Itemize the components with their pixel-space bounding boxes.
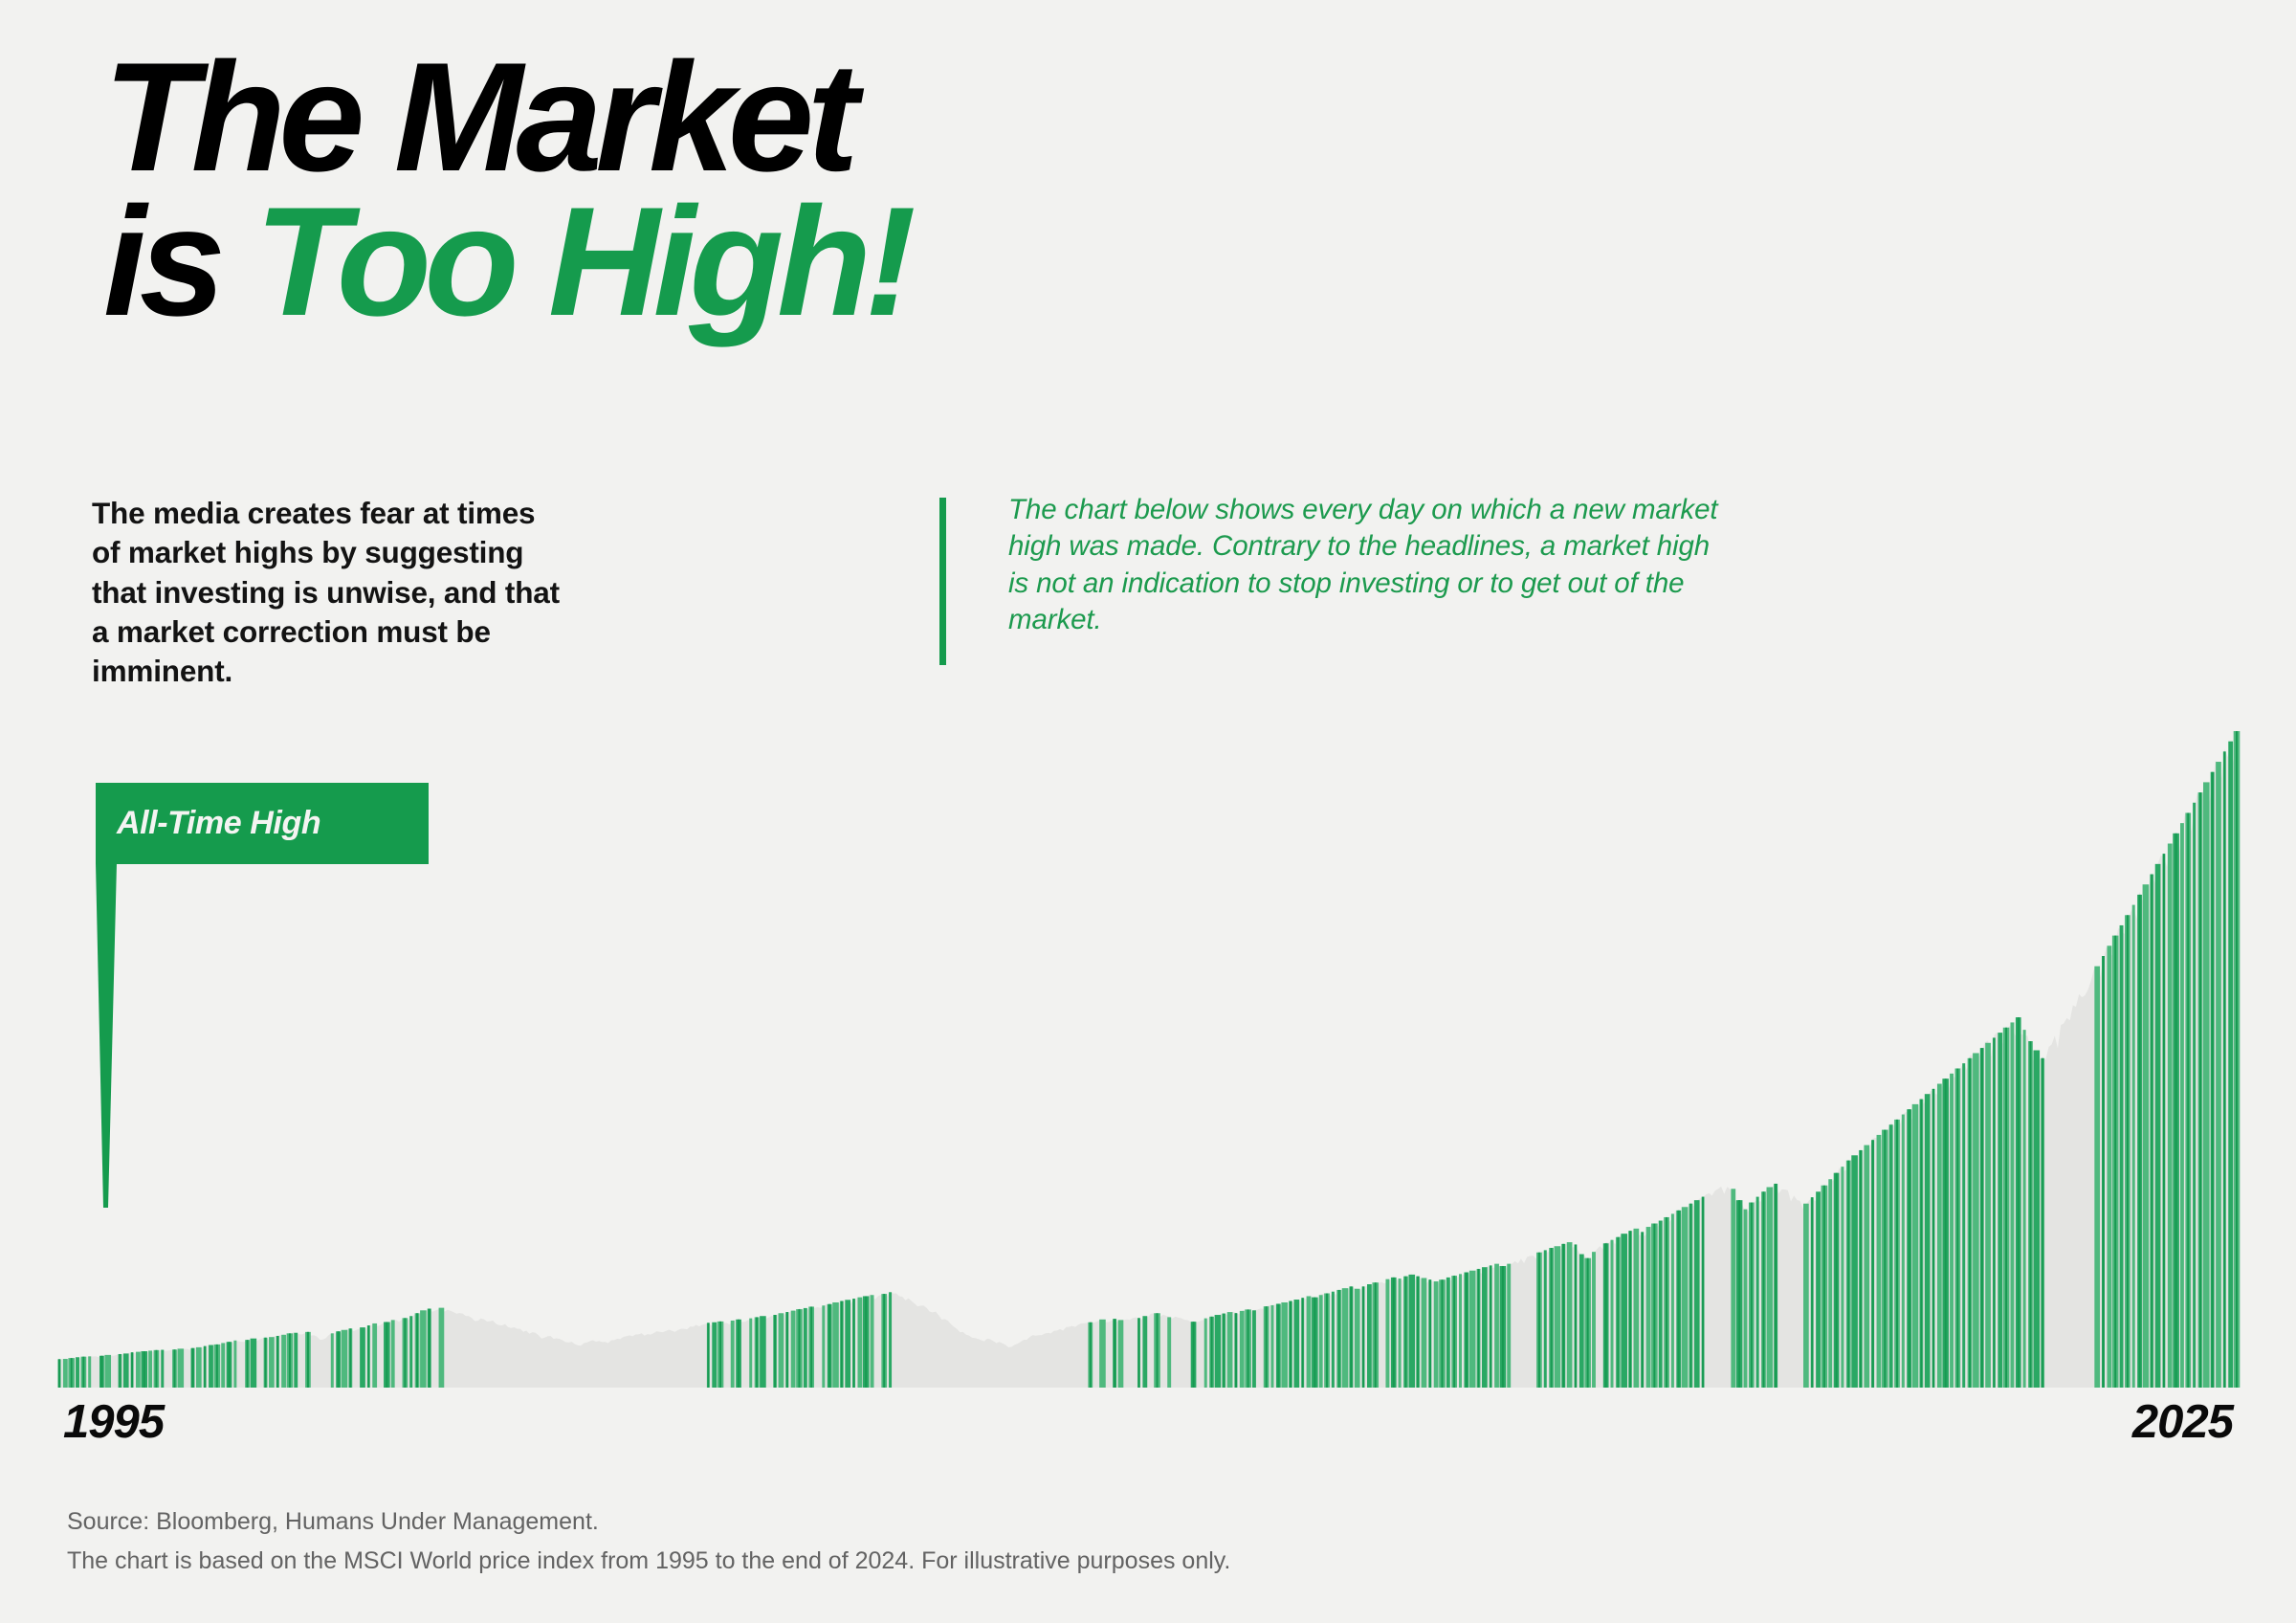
all-time-high-line-core	[1350, 1286, 1352, 1388]
all-time-high-line-core	[798, 1309, 800, 1388]
all-time-high-line-core	[191, 1348, 193, 1388]
all-time-high-line	[1592, 1252, 1596, 1388]
all-time-high-line	[1099, 1320, 1106, 1388]
all-time-high-line-core	[853, 1299, 855, 1388]
all-time-high-line-core	[204, 1346, 206, 1388]
all-time-high-line-core	[1417, 1277, 1419, 1388]
all-time-high-line-core	[1114, 1319, 1115, 1388]
all-time-high-line	[1864, 1145, 1869, 1388]
all-time-high-line	[845, 1300, 850, 1388]
all-time-high-line	[791, 1311, 796, 1388]
headline-line-2-green: Too High!	[254, 175, 909, 348]
all-time-high-line	[1367, 1284, 1372, 1388]
all-time-high-line-core	[58, 1359, 60, 1388]
all-time-high-line	[1579, 1255, 1584, 1388]
all-time-high-line-core	[1490, 1265, 1491, 1388]
all-time-high-line-core	[1653, 1224, 1655, 1389]
all-time-high-line	[1215, 1315, 1222, 1388]
all-time-high-line-core	[1932, 1089, 1934, 1388]
callout-label: All-Time High	[96, 783, 429, 864]
all-time-high-line-core	[1666, 1217, 1667, 1388]
all-time-high-callout: All-Time High	[88, 783, 452, 1204]
all-time-high-line	[1494, 1264, 1499, 1388]
all-time-high-line-core	[1896, 1120, 1898, 1388]
all-time-high-line	[1646, 1227, 1651, 1388]
all-time-high-line	[1307, 1296, 1312, 1388]
all-time-high-line-core	[1969, 1058, 1971, 1388]
all-time-high-line	[857, 1298, 862, 1388]
all-time-high-line	[1621, 1234, 1627, 1388]
all-time-high-line-core	[119, 1354, 121, 1388]
all-time-high-line	[1756, 1197, 1759, 1388]
all-time-high-line	[2216, 762, 2221, 1388]
all-time-high-line-core	[1762, 1191, 1764, 1388]
all-time-high-line-core	[2236, 731, 2238, 1388]
all-time-high-line	[123, 1353, 129, 1388]
all-time-high-line-core	[865, 1296, 867, 1388]
footnote-line-2: The chart is based on the MSCI World pri…	[67, 1542, 1980, 1581]
all-time-high-line-core	[131, 1352, 133, 1388]
all-time-high-line-core	[738, 1320, 740, 1388]
all-time-high-line	[1851, 1155, 1858, 1388]
all-time-high-line-core	[82, 1357, 84, 1388]
all-time-high-line-core	[810, 1306, 812, 1388]
all-time-high-line	[1611, 1240, 1614, 1388]
page-title: The Market is Too High!	[103, 46, 1538, 334]
all-time-high-line-core	[1993, 1037, 1995, 1388]
all-time-high-line	[360, 1327, 365, 1388]
all-time-high-line	[1634, 1229, 1640, 1388]
all-time-high-line	[269, 1337, 275, 1388]
all-time-high-line	[1985, 1043, 1991, 1388]
all-time-high-line-core	[143, 1351, 145, 1388]
all-time-high-line	[1877, 1135, 1882, 1388]
all-time-high-line-core	[2212, 772, 2214, 1388]
all-time-high-line	[1385, 1279, 1389, 1388]
all-time-high-line-core	[367, 1325, 369, 1388]
all-time-high-line	[331, 1333, 334, 1388]
all-time-high-line-core	[276, 1336, 278, 1388]
all-time-high-line	[822, 1305, 825, 1388]
all-time-high-line-core	[1326, 1293, 1328, 1388]
all-time-high-line-core	[774, 1315, 776, 1388]
all-time-high-line	[294, 1333, 298, 1388]
all-time-high-line	[2203, 782, 2210, 1388]
all-time-high-line-core	[289, 1333, 291, 1388]
all-time-high-line	[1252, 1310, 1256, 1388]
all-time-high-line-core	[2139, 895, 2141, 1388]
all-time-high-line	[221, 1343, 225, 1388]
all-time-high-line	[1912, 1104, 1919, 1388]
axis-label-start-year: 1995	[63, 1395, 164, 1449]
axis-label-end-year: 2025	[2132, 1395, 2233, 1449]
all-time-high-line-core	[265, 1338, 267, 1388]
all-time-high-line-core	[1642, 1232, 1644, 1388]
all-time-high-line	[1544, 1250, 1547, 1388]
all-time-high-line-core	[707, 1323, 709, 1388]
all-time-high-line	[1816, 1191, 1821, 1388]
all-time-high-line-core	[2163, 854, 2165, 1388]
all-time-high-line	[1767, 1188, 1774, 1388]
all-time-high-line	[1319, 1295, 1323, 1388]
all-time-high-line	[1555, 1246, 1561, 1388]
all-time-high-line	[63, 1359, 68, 1388]
all-time-high-line	[439, 1308, 445, 1388]
all-time-high-line-core	[416, 1313, 418, 1388]
all-time-high-line-core	[155, 1350, 157, 1388]
all-time-high-line-core	[1193, 1322, 1195, 1388]
all-time-high-line-core	[229, 1342, 231, 1388]
all-time-high-line	[1293, 1300, 1299, 1388]
all-time-high-line	[1482, 1267, 1488, 1388]
all-time-high-line	[1950, 1074, 1954, 1388]
all-time-high-line-core	[307, 1332, 309, 1388]
all-time-high-line	[196, 1347, 202, 1388]
all-time-high-line	[1355, 1289, 1360, 1388]
all-time-high-line	[760, 1316, 766, 1388]
all-time-high-line	[1973, 1053, 1979, 1388]
headline-line-2-black: is	[103, 175, 254, 348]
all-time-high-line-core	[1362, 1286, 1364, 1388]
all-time-high-line	[1731, 1189, 1735, 1388]
all-time-high-line-core	[1860, 1150, 1862, 1388]
all-time-high-line-core	[883, 1294, 885, 1388]
all-time-high-line	[1118, 1320, 1124, 1388]
all-time-high-line-core	[1538, 1253, 1540, 1388]
headline-line-2: is Too High!	[103, 190, 1538, 335]
all-time-high-line-core	[1393, 1278, 1395, 1388]
all-time-high-line	[1204, 1319, 1207, 1388]
all-time-high-line	[104, 1355, 111, 1388]
all-time-high-line-core	[1266, 1306, 1268, 1388]
all-time-high-line	[233, 1341, 236, 1388]
all-time-high-line	[1434, 1281, 1439, 1388]
all-time-high-line	[1469, 1271, 1476, 1388]
all-time-high-line	[1659, 1221, 1663, 1388]
all-time-high-line	[161, 1350, 164, 1388]
all-time-high-line	[76, 1357, 79, 1388]
all-time-high-line-core	[1302, 1298, 1304, 1388]
all-time-high-line	[1408, 1275, 1415, 1388]
all-time-high-line-core	[1738, 1200, 1740, 1388]
all-time-high-line	[1567, 1242, 1573, 1388]
all-time-high-line	[889, 1292, 892, 1388]
all-time-high-line-core	[2151, 875, 2152, 1388]
all-time-high-line	[1270, 1305, 1273, 1388]
all-time-high-line-core	[1223, 1314, 1225, 1388]
all-time-high-line-core	[1575, 1244, 1577, 1388]
all-time-high-line	[136, 1352, 141, 1388]
intro-right-paragraph: The chart below shows every day on which…	[1008, 492, 1735, 638]
all-time-high-line-core	[1562, 1244, 1564, 1388]
all-time-high-line	[1332, 1292, 1335, 1388]
all-time-high-line	[372, 1323, 377, 1388]
all-time-high-line-core	[1945, 1078, 1947, 1388]
intro-left-paragraph: The media creates fear at times of marke…	[92, 494, 570, 691]
all-time-high-line-core	[1689, 1204, 1691, 1388]
all-time-high-line-core	[756, 1317, 758, 1388]
all-time-high-line-core	[2005, 1028, 2007, 1388]
all-time-high-line	[1902, 1115, 1905, 1388]
all-time-high-line-core	[1836, 1173, 1838, 1388]
all-time-high-line	[871, 1295, 874, 1388]
all-time-high-line-core	[1314, 1298, 1315, 1388]
all-time-high-line-core	[1956, 1068, 1958, 1388]
all-time-high-line	[2010, 1022, 2014, 1388]
all-time-high-line-core	[1478, 1269, 1480, 1388]
all-time-high-line	[2094, 967, 2100, 1388]
all-time-high-line	[251, 1339, 257, 1388]
all-time-high-line-core	[1617, 1237, 1619, 1388]
all-time-high-line	[1281, 1302, 1288, 1388]
all-time-high-line-core	[2127, 915, 2129, 1388]
all-time-high-line-core	[338, 1331, 340, 1388]
all-time-high-line	[1803, 1204, 1809, 1388]
all-time-high-line-core	[1775, 1184, 1777, 1388]
all-time-high-line	[1889, 1124, 1893, 1388]
all-time-high-line	[731, 1321, 735, 1388]
all-time-high-line	[804, 1308, 807, 1388]
callout-pointer-leg	[88, 863, 145, 1208]
all-time-high-line	[178, 1348, 185, 1388]
all-time-high-line	[779, 1313, 784, 1388]
all-time-high-line	[1962, 1063, 1965, 1388]
all-time-high-line	[1682, 1207, 1689, 1388]
all-time-high-line	[1507, 1264, 1511, 1388]
all-time-high-line	[2132, 905, 2135, 1388]
all-time-high-line-core	[1751, 1203, 1753, 1388]
all-time-high-line-core	[1375, 1282, 1377, 1388]
all-time-high-line	[1422, 1278, 1427, 1388]
all-time-high-line-core	[1629, 1231, 1631, 1388]
all-time-high-line-core	[1847, 1161, 1849, 1388]
all-time-high-line	[1841, 1167, 1843, 1388]
all-time-high-line-core	[1702, 1197, 1704, 1388]
all-time-high-line-core	[1466, 1273, 1468, 1388]
all-time-high-line-core	[1429, 1279, 1431, 1388]
all-time-high-line-core	[2187, 812, 2189, 1388]
callout-box: All-Time High	[96, 783, 429, 864]
all-time-high-line-core	[1502, 1266, 1504, 1388]
all-time-high-line	[1240, 1311, 1245, 1388]
intro-divider-rule	[939, 498, 946, 665]
all-time-high-line-core	[1235, 1313, 1237, 1388]
all-time-high-line	[2120, 925, 2124, 1388]
all-time-high-line	[1167, 1317, 1171, 1388]
all-time-high-line-core	[1920, 1100, 1922, 1388]
all-time-high-line	[342, 1330, 348, 1388]
all-time-high-line-core	[719, 1322, 721, 1388]
all-time-high-line	[409, 1316, 412, 1388]
all-time-high-line-core	[404, 1318, 406, 1388]
all-time-high-line	[209, 1345, 213, 1388]
all-time-high-line	[2180, 823, 2184, 1388]
all-time-high-line-core	[1290, 1301, 1291, 1389]
all-time-high-line	[2107, 945, 2111, 1388]
footnote-line-1: Source: Bloomberg, Humans Under Manageme…	[67, 1502, 1980, 1542]
all-time-high-line	[2155, 864, 2161, 1388]
all-time-high-line	[281, 1335, 286, 1388]
all-time-high-line-core	[1587, 1258, 1589, 1388]
all-time-high-line	[1446, 1278, 1450, 1388]
all-time-high-line	[832, 1302, 839, 1388]
all-time-high-line-core	[2103, 956, 2105, 1388]
all-time-high-line	[1694, 1200, 1700, 1388]
all-time-high-line	[1142, 1316, 1147, 1388]
all-time-high-line	[1342, 1288, 1349, 1388]
all-time-high-line	[2193, 803, 2196, 1388]
all-time-high-line	[2023, 1030, 2026, 1388]
all-time-high-line	[1227, 1312, 1233, 1388]
all-time-high-line	[749, 1319, 752, 1388]
all-time-high-line	[1828, 1179, 1832, 1388]
all-time-high-line-core	[1811, 1197, 1813, 1388]
all-time-high-line-core	[1137, 1318, 1139, 1388]
all-time-high-line-core	[386, 1322, 387, 1388]
all-time-high-line-core	[1678, 1211, 1680, 1388]
all-time-high-line-core	[349, 1328, 351, 1388]
all-time-high-line-core	[1277, 1303, 1279, 1388]
all-time-high-line-core	[1211, 1317, 1213, 1388]
all-time-high-line-core	[2223, 751, 2225, 1388]
source-footnote: Source: Bloomberg, Humans Under Manageme…	[67, 1502, 1980, 1580]
all-time-high-line-core	[1338, 1290, 1340, 1388]
all-time-high-line-core	[247, 1340, 249, 1388]
all-time-high-line	[1459, 1274, 1462, 1388]
all-time-high-line-core	[2114, 936, 2116, 1388]
all-time-high-line	[712, 1323, 717, 1388]
all-time-high-line-core	[1605, 1243, 1607, 1388]
all-time-high-line-core	[1823, 1186, 1825, 1388]
all-time-high-line-core	[2029, 1041, 2031, 1388]
all-time-high-line-core	[100, 1356, 102, 1388]
all-time-high-line-core	[841, 1301, 843, 1389]
all-time-high-line	[148, 1350, 152, 1388]
all-time-high-line-core	[429, 1309, 430, 1388]
all-time-high-line-core	[1453, 1276, 1455, 1388]
all-time-high-line	[2143, 884, 2150, 1388]
all-time-high-line	[1671, 1213, 1674, 1388]
all-time-high-line-core	[2199, 792, 2201, 1388]
all-time-high-line-core	[1157, 1313, 1159, 1388]
all-time-high-line-core	[1551, 1248, 1553, 1388]
all-time-high-line-core	[1872, 1140, 1874, 1388]
all-time-high-line	[1744, 1210, 1748, 1388]
all-time-high-line	[391, 1320, 395, 1388]
all-time-high-line	[1937, 1084, 1942, 1388]
all-time-high-line-core	[1090, 1323, 1092, 1388]
all-time-high-line	[1925, 1094, 1931, 1388]
all-time-high-line-core	[173, 1349, 175, 1388]
all-time-high-line-core	[786, 1312, 788, 1388]
all-time-high-line-core	[1981, 1048, 1983, 1388]
all-time-high-line-core	[2018, 1017, 2020, 1388]
all-time-high-line-core	[2042, 1058, 2043, 1388]
all-time-high-line-core	[1441, 1279, 1443, 1388]
all-time-high-line	[1998, 1033, 2002, 1388]
all-time-high-line-core	[1884, 1130, 1886, 1388]
all-time-high-line-core	[1909, 1109, 1910, 1388]
all-time-high-line	[420, 1310, 427, 1388]
all-time-high-line	[2033, 1051, 2040, 1388]
all-time-high-line	[1399, 1278, 1402, 1388]
all-time-high-line-core	[828, 1304, 830, 1388]
all-time-high-line	[2168, 844, 2173, 1389]
all-time-high-line-core	[71, 1358, 73, 1388]
all-time-high-line-core	[1404, 1277, 1406, 1388]
all-time-high-line-core	[216, 1345, 218, 1388]
all-time-high-line-core	[1247, 1309, 1249, 1388]
all-time-high-line	[88, 1356, 91, 1388]
intro-section: The media creates fear at times of marke…	[92, 494, 1737, 676]
all-time-high-line	[2228, 742, 2233, 1388]
all-time-high-line-core	[2175, 834, 2177, 1388]
